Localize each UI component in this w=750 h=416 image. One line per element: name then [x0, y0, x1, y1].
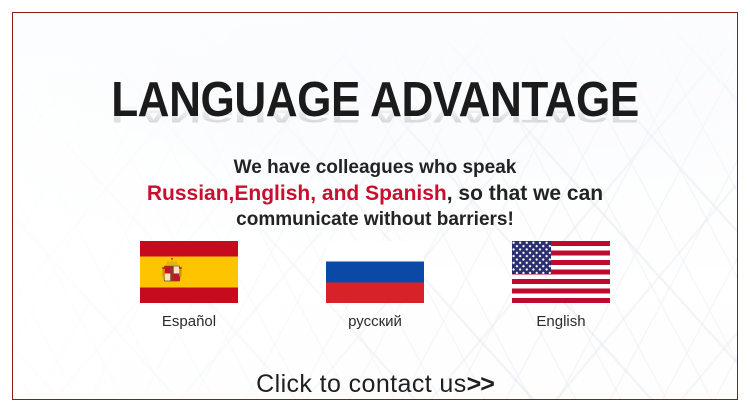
- subtitle-line-2-rest: , so that we can: [447, 182, 603, 205]
- usa-flag-stars: [512, 241, 551, 274]
- language-advantage-banner: LANGUAGE ADVANTAGE LANGUAGE ADVANTAGE We…: [0, 0, 750, 416]
- contact-us-link[interactable]: Click to contact us>>: [13, 369, 737, 399]
- contact-us-label: Click to contact us: [256, 370, 466, 398]
- spain-coat-of-arms-icon: [162, 257, 182, 287]
- language-item-spanish[interactable]: Español: [140, 241, 238, 331]
- flag-row: Español русский English: [13, 241, 737, 331]
- usa-flag-icon: [512, 241, 610, 303]
- usa-flag-canton: [512, 241, 551, 274]
- subtitle-line-1: We have colleagues who speak: [13, 155, 737, 180]
- chevron-right-double-icon: >>: [467, 370, 494, 398]
- spain-flag-icon: [140, 241, 238, 303]
- language-item-russian[interactable]: русский: [326, 241, 424, 331]
- language-label-russian: русский: [326, 313, 424, 331]
- banner-panel: LANGUAGE ADVANTAGE LANGUAGE ADVANTAGE We…: [12, 12, 738, 400]
- subtitle-block: We have colleagues who speak Russian,Eng…: [13, 155, 737, 232]
- banner-content: LANGUAGE ADVANTAGE LANGUAGE ADVANTAGE We…: [13, 13, 737, 399]
- russia-flag-icon: [326, 241, 424, 303]
- subtitle-line-3: communicate without barriers!: [13, 207, 737, 232]
- languages-highlight: Russian,English, and Spanish: [147, 182, 447, 205]
- language-label-english: English: [512, 313, 610, 331]
- language-label-spanish: Español: [140, 313, 238, 331]
- page-title: LANGUAGE ADVANTAGE: [49, 75, 701, 125]
- language-item-english[interactable]: English: [512, 241, 610, 331]
- subtitle-line-2: Russian,English, and Spanish, so that we…: [13, 180, 737, 207]
